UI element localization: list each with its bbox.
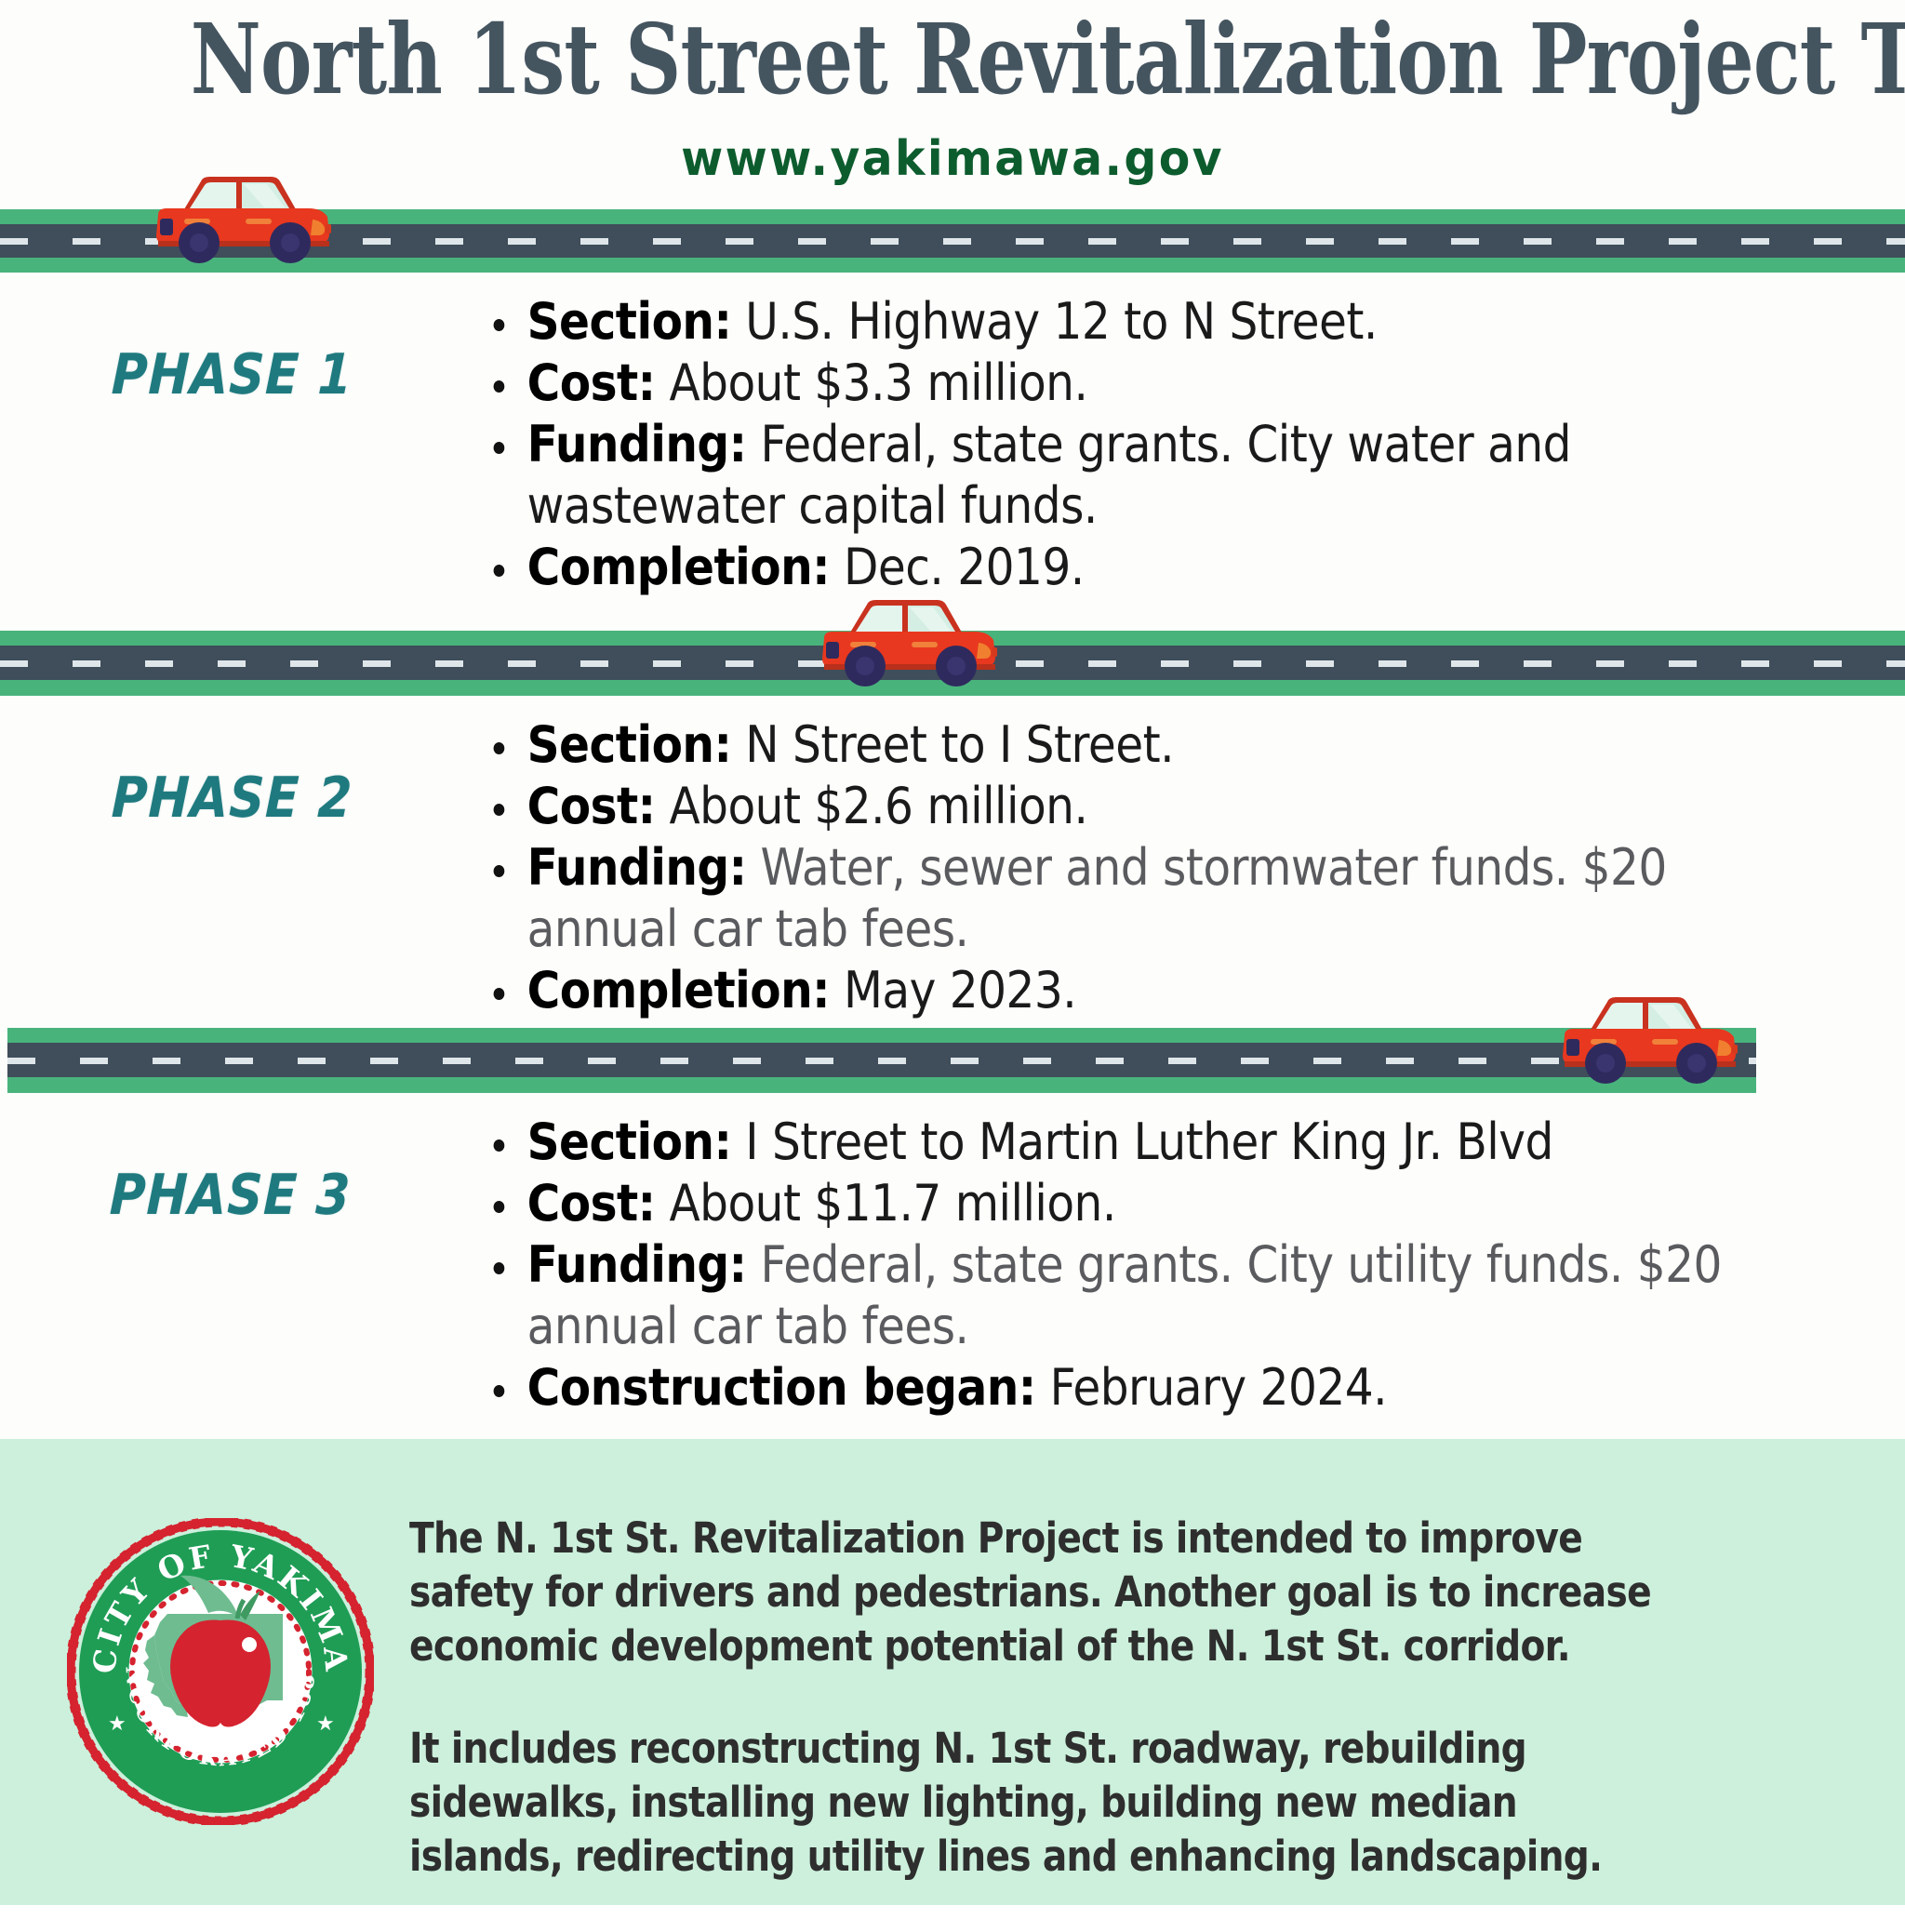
list-item: Cost: About $11.7 million. bbox=[482, 1173, 1763, 1234]
car-icon bbox=[136, 168, 337, 271]
phase-label-1: PHASE 1 bbox=[111, 342, 353, 407]
bullet-value: About $2.6 million. bbox=[669, 777, 1087, 835]
phase-bullets-3: Section: I Street to Martin Luther King … bbox=[482, 1112, 1905, 1419]
footer-paragraph-1: The N. 1st St. Revitalization Project is… bbox=[409, 1512, 1656, 1673]
list-item: Cost: About $2.6 million. bbox=[482, 776, 1746, 837]
bullet-label: Cost: bbox=[527, 777, 656, 835]
bullet-value: N Street to I Street. bbox=[745, 715, 1174, 774]
list-item: Funding: Federal, state grants. City uti… bbox=[482, 1234, 1763, 1357]
bullet-label: Cost: bbox=[527, 1174, 656, 1232]
road-divider-3 bbox=[7, 1028, 1756, 1093]
phase-block-1: PHASE 1 Section: U.S. Highway 12 to N St… bbox=[0, 273, 1905, 631]
car-icon bbox=[1542, 989, 1743, 1091]
seal-star-right-icon: ★ bbox=[316, 1712, 335, 1736]
bullet-value: U.S. Highway 12 to N Street. bbox=[745, 292, 1378, 351]
bullet-value: About $3.3 million. bbox=[669, 353, 1087, 412]
bullet-label: Construction began: bbox=[527, 1358, 1036, 1417]
list-item: Construction began: February 2024. bbox=[482, 1357, 1763, 1419]
infographic-page: North 1st Street Revitalization Project … bbox=[0, 0, 1905, 1905]
bullet-label: Section: bbox=[527, 715, 732, 774]
seal-star-left-icon: ★ bbox=[108, 1712, 127, 1736]
bullet-label: Funding: bbox=[527, 415, 747, 473]
bullet-label: Completion: bbox=[527, 538, 830, 596]
car-icon bbox=[802, 592, 1003, 694]
bullet-label: Section: bbox=[527, 1113, 732, 1171]
bullet-value: I Street to Martin Luther King Jr. Blvd bbox=[745, 1113, 1552, 1171]
bullet-label: Cost: bbox=[527, 353, 656, 412]
footer-description: The N. 1st St. Revitalization Project is… bbox=[409, 1512, 1842, 1932]
bullet-label: Funding: bbox=[527, 838, 747, 897]
bullet-label: Funding: bbox=[527, 1235, 747, 1294]
list-item: Section: N Street to I Street. bbox=[482, 714, 1746, 776]
road-divider-1 bbox=[0, 209, 1905, 273]
bullet-value: May 2023. bbox=[844, 961, 1076, 1019]
phase-bullets-1: Section: U.S. Highway 12 to N Street. Co… bbox=[482, 291, 1886, 598]
phase-label-2: PHASE 2 bbox=[111, 766, 353, 831]
phase-block-3: PHASE 3 Section: I Street to Martin Luth… bbox=[0, 1093, 1905, 1439]
city-of-yakima-seal-icon: CITY OF YAKIMA INCORPORATED 1886 ★ ★ bbox=[67, 1518, 374, 1825]
footer-paragraph-2: It includes reconstructing N. 1st St. ro… bbox=[409, 1722, 1656, 1884]
road-divider-2 bbox=[0, 631, 1905, 696]
bullet-value: February 2024. bbox=[1050, 1358, 1387, 1417]
phase-label-3: PHASE 3 bbox=[109, 1163, 352, 1228]
bullet-value: About $11.7 million. bbox=[669, 1174, 1115, 1232]
list-item: Section: I Street to Martin Luther King … bbox=[482, 1112, 1763, 1173]
page-title: North 1st Street Revitalization Project … bbox=[191, 7, 1714, 112]
list-item: Funding: Federal, state grants. City wat… bbox=[482, 414, 1746, 537]
list-item: Section: U.S. Highway 12 to N Street. bbox=[482, 291, 1746, 353]
list-item: Cost: About $3.3 million. bbox=[482, 353, 1746, 414]
bullet-label: Section: bbox=[527, 292, 732, 351]
list-item: Funding: Water, sewer and stormwater fun… bbox=[482, 837, 1746, 960]
bullet-label: Completion: bbox=[527, 961, 830, 1019]
phase-bullets-2: Section: N Street to I Street. Cost: Abo… bbox=[482, 714, 1886, 1021]
list-item: Completion: Dec. 2019. bbox=[482, 537, 1746, 598]
lane-dashes bbox=[7, 1058, 1756, 1064]
bullet-value: Dec. 2019. bbox=[844, 538, 1085, 596]
